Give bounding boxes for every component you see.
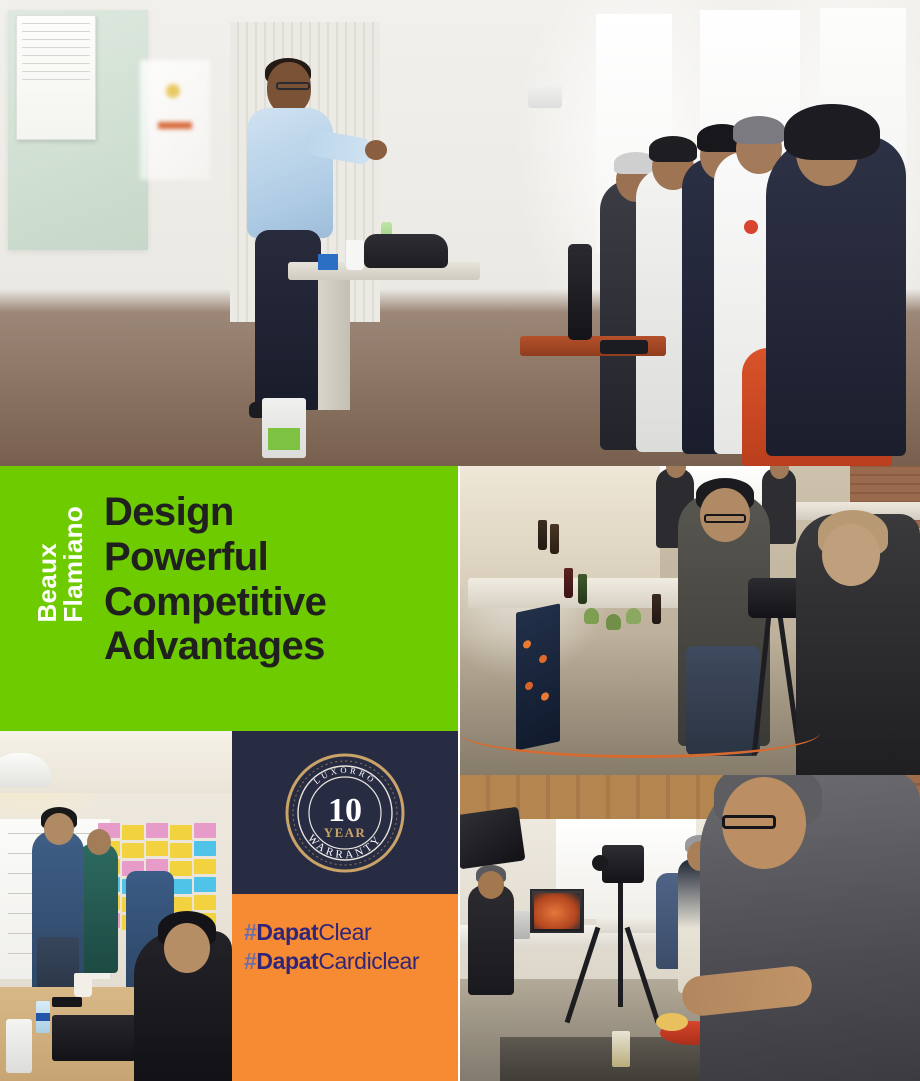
- presenter-shirt: [247, 108, 333, 238]
- author-last-name: Flamiano: [60, 506, 86, 623]
- flipchart-paper: [16, 15, 96, 140]
- standing-desk-leg: [318, 280, 350, 410]
- headline-line-4: Advantages: [104, 624, 444, 669]
- photo-food-shoot-scene: [460, 775, 920, 1081]
- hashtag-symbol: #: [244, 919, 256, 945]
- air-conditioner: [528, 84, 562, 108]
- prop-bottle-3: [564, 568, 573, 598]
- author-name: Flamiano Beaux: [34, 506, 86, 623]
- seal-unit: YEAR: [324, 825, 366, 840]
- presenter-hand: [365, 140, 387, 160]
- white-tumbler: [6, 1019, 32, 1073]
- author-first-name: Beaux: [34, 506, 60, 623]
- photo-production-shoot: [460, 466, 920, 775]
- prop-bottle-5: [652, 594, 661, 624]
- hashtag-item-2: #DapatCardiclear: [244, 947, 419, 976]
- hashtag-tail: Cardiclear: [318, 948, 419, 974]
- hashtag-brand: Dapat: [256, 919, 318, 945]
- prop-plant-3: [626, 608, 641, 624]
- title-panel: Flamiano Beaux Design Powerful Competiti…: [0, 466, 458, 731]
- backpack: [364, 234, 448, 268]
- hashtag-item-1: #DapatClear: [244, 918, 419, 947]
- glass-whiteboard: [8, 10, 148, 250]
- laptop: [52, 1015, 136, 1061]
- seated-crew-figure: [468, 885, 514, 995]
- plastic-bottle: [36, 1001, 50, 1033]
- prop-bottle-1: [538, 520, 547, 550]
- prop-plant-1: [584, 608, 599, 624]
- hashtag-symbol: #: [244, 948, 256, 974]
- hashtag-brand: Dapat: [256, 948, 318, 974]
- warranty-badge-panel: LUXORRO WARRANTY 10 YEAR: [232, 731, 458, 894]
- video-camera: [602, 845, 644, 883]
- softbox-light: [460, 807, 525, 870]
- hashtag-panel: #DapatClear #DapatCardiclear: [232, 894, 458, 1081]
- foreground-chef-figure: [700, 775, 920, 1081]
- warranty-seal-icon: LUXORRO WARRANTY 10 YEAR: [283, 751, 407, 875]
- orange-extension-cord: [460, 728, 820, 758]
- food-item: [656, 1013, 688, 1031]
- prop-bottle-4: [578, 574, 587, 604]
- prop-plant-2: [606, 614, 621, 630]
- paper-cup: [346, 240, 364, 270]
- audience-member-5: [766, 136, 906, 456]
- photo-presentation-scene: [0, 0, 920, 466]
- photo-workshop: [0, 731, 232, 1081]
- headline-line-3: Competitive: [104, 580, 444, 625]
- smartphone: [600, 340, 648, 354]
- collage-canvas: Flamiano Beaux Design Powerful Competiti…: [0, 0, 920, 1081]
- workshop-person-seated: [134, 931, 232, 1081]
- preview-monitor: [530, 889, 584, 933]
- presenter-trousers: [255, 230, 321, 410]
- tripod-column: [618, 881, 623, 1007]
- storage-bin: [262, 398, 306, 458]
- headline-line-1: Design: [104, 490, 444, 535]
- prop-bottle-2: [550, 524, 559, 554]
- photo-workshop-scene: [0, 731, 232, 1081]
- hashtag-tail: Clear: [318, 919, 371, 945]
- photo-presentation: [0, 0, 920, 466]
- spice-jar: [612, 1031, 630, 1067]
- studio-wall: [460, 466, 660, 586]
- blue-box: [318, 254, 338, 270]
- headline: Design Powerful Competitive Advantages: [104, 490, 444, 669]
- coffee-cup: [74, 973, 92, 997]
- seal-top-arc-label: LUXORRO: [311, 764, 378, 785]
- phone-on-desk: [52, 997, 82, 1007]
- seal-number: 10: [328, 792, 362, 829]
- workshop-person-2: [78, 843, 118, 973]
- hashtag-list: #DapatClear #DapatCardiclear: [244, 918, 419, 977]
- photo-production-scene: [460, 466, 920, 775]
- presenter-glasses: [276, 82, 310, 90]
- thermos-flask: [568, 244, 592, 340]
- projected-slide: [140, 60, 210, 180]
- headline-line-2: Powerful: [104, 535, 444, 580]
- photo-food-shoot: [460, 775, 920, 1081]
- prop-table: [468, 578, 708, 608]
